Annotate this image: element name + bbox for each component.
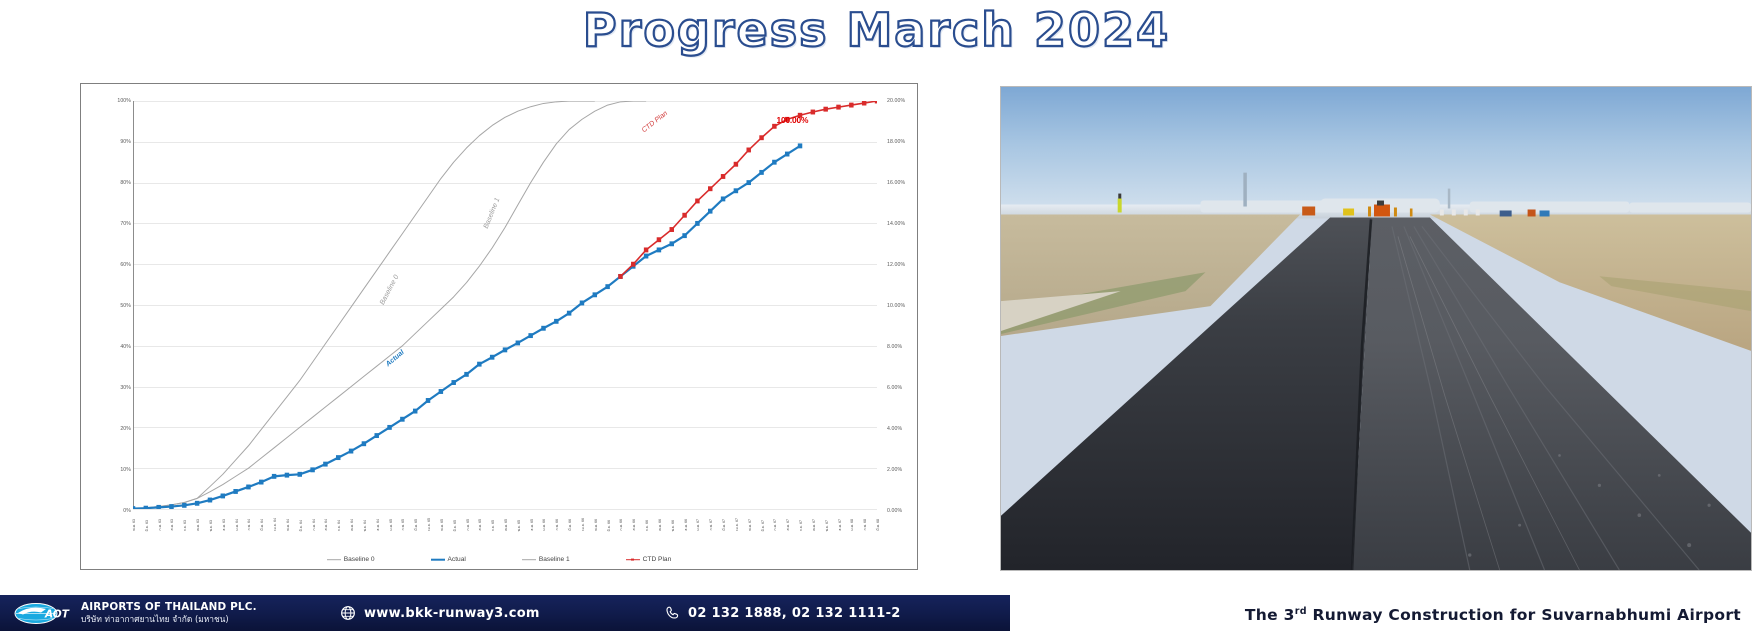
- x-axis-tick-label: ก.ย. 65: [492, 520, 496, 531]
- x-axis-tick-label: ส.ค. 64: [325, 519, 329, 531]
- series-marker: [670, 241, 674, 246]
- footer-org-name-en: AIRPORTS OF THAILAND PLC.: [81, 602, 257, 614]
- series-marker: [323, 462, 327, 467]
- x-axis-tick-label: ธ.ค. 67: [839, 519, 843, 531]
- x-axis-tick-label: ต.ค. 65: [505, 519, 509, 531]
- x-axis-tick-label: พ.ย. 67: [826, 520, 830, 531]
- legend-label: Baseline 1: [539, 556, 570, 563]
- y-axis-tick-label: 90%: [120, 139, 131, 145]
- progress-chart-panel: 100%90%80%70%60%50%40%30%20%10%0% 20.00%…: [80, 83, 918, 570]
- legend-item-baseline-0[interactable]: Baseline 0: [327, 556, 375, 563]
- y-axis-tick-label: 60%: [120, 262, 131, 268]
- x-axis-tick-label: เม.ย. 64: [274, 518, 278, 531]
- series-marker: [400, 417, 404, 422]
- series-marker: [554, 319, 558, 324]
- chart-series-svg: [133, 101, 877, 509]
- series-marker: [734, 188, 738, 193]
- x-axis-tick-label: มี.ค. 68: [877, 519, 881, 531]
- series-marker: [272, 474, 276, 479]
- series-marker: [746, 180, 750, 185]
- footer-website-text: www.bkk-runway3.com: [364, 606, 540, 621]
- legend-item-ctd-plan[interactable]: CTD Plan: [626, 556, 672, 563]
- series-marker: [670, 227, 674, 232]
- svg-text:AOT: AOT: [44, 608, 70, 620]
- y-axis-tick-label: 20%: [120, 426, 131, 432]
- series-marker: [657, 237, 661, 242]
- series-marker: [721, 174, 725, 179]
- series-marker: [708, 209, 712, 214]
- phone-icon: [665, 605, 681, 621]
- y-axis-tick-label: 50%: [120, 303, 131, 309]
- x-axis-tick-label: ธ.ค. 63: [223, 519, 227, 531]
- series-marker: [721, 196, 725, 201]
- x-axis-tick-label: ต.ค. 63: [197, 519, 201, 531]
- series-marker: [695, 199, 699, 204]
- series-line-actual: [133, 146, 800, 509]
- series-marker: [849, 103, 853, 108]
- series-marker: [182, 503, 186, 508]
- x-axis-tick-label: ก.ค. 66: [620, 519, 624, 531]
- legend-label: Actual: [448, 556, 466, 563]
- secondary-y-axis-tick-label: 20.00%: [887, 98, 905, 104]
- x-axis-tick-label: ต.ค. 64: [351, 519, 355, 531]
- series-marker: [593, 292, 597, 297]
- y-axis-tick-label: 80%: [120, 180, 131, 186]
- x-axis-tick-label: ก.พ. 64: [248, 519, 252, 531]
- x-axis-tick-label: ส.ค. 66: [633, 519, 637, 531]
- x-axis-tick-label: มิ.ย. 66: [608, 520, 612, 531]
- series-marker: [823, 107, 827, 112]
- series-marker: [477, 362, 481, 367]
- primary-y-axis: 100%90%80%70%60%50%40%30%20%10%0%: [91, 84, 131, 569]
- y-axis-tick-label: 30%: [120, 385, 131, 391]
- x-axis-tick-label: ส.ค. 65: [479, 519, 483, 531]
- x-axis-tick-labels: พ.ค. 63มิ.ย. 63ก.ค. 63ส.ค. 63ก.ย. 63ต.ค.…: [133, 509, 877, 531]
- series-marker: [811, 110, 815, 115]
- x-axis-tick-label: ต.ค. 67: [813, 519, 817, 531]
- series-marker: [451, 380, 455, 385]
- series-marker: [631, 262, 635, 267]
- series-marker: [349, 449, 353, 454]
- secondary-y-axis-tick-label: 4.00%: [887, 426, 902, 432]
- footer-phone-text: 02 132 1888, 02 132 1111-2: [688, 606, 901, 621]
- series-marker: [426, 398, 430, 403]
- legend-item-actual[interactable]: Actual: [431, 556, 466, 563]
- secondary-y-axis: 20.00%18.00%16.00%14.00%12.00%10.00%8.00…: [881, 84, 921, 569]
- x-axis-tick-label: ก.ค. 67: [774, 519, 778, 531]
- series-marker: [618, 274, 622, 279]
- secondary-y-axis-tick-label: 14.00%: [887, 221, 905, 227]
- x-axis-tick-label: มี.ค. 65: [415, 519, 419, 531]
- x-axis-tick-label: พ.ค. 63: [133, 519, 137, 531]
- series-marker: [580, 301, 584, 306]
- series-marker: [772, 160, 776, 165]
- page-title: Progress March 2024: [0, 2, 1753, 60]
- series-marker: [439, 389, 443, 394]
- x-axis-tick-label: ก.ย. 67: [800, 520, 804, 531]
- secondary-y-axis-tick-label: 18.00%: [887, 139, 905, 145]
- x-axis-tick-label: ก.พ. 66: [556, 519, 560, 531]
- aot-logo-icon: AOT: [14, 602, 74, 625]
- series-marker: [285, 473, 289, 478]
- series-marker: [221, 493, 225, 498]
- secondary-y-axis-tick-label: 0.00%: [887, 508, 902, 514]
- series-marker: [862, 101, 866, 105]
- x-axis-tick-label: ม.ค. 65: [390, 519, 394, 531]
- legend-marker: [631, 558, 634, 561]
- series-marker: [233, 489, 237, 494]
- x-axis-tick-label: ธ.ค. 66: [685, 519, 689, 531]
- series-line-baseline-0: [133, 101, 595, 509]
- series-marker: [490, 355, 494, 360]
- chart-plot-area: Baseline 0 Baseline 1 Actual CTD Plan 10…: [133, 101, 877, 509]
- series-marker: [195, 501, 199, 506]
- footer-caption-prefix: The 3: [1245, 606, 1295, 624]
- x-axis-tick-label: พ.ค. 67: [749, 519, 753, 531]
- footer-brand: AOT AIRPORTS OF THAILAND PLC. บริษัท ท่า…: [14, 602, 257, 625]
- series-marker: [759, 170, 763, 175]
- globe-icon: [340, 605, 356, 621]
- x-axis-tick-label: มิ.ย. 67: [762, 520, 766, 531]
- x-axis-tick-label: มี.ค. 67: [723, 519, 727, 531]
- x-axis-tick-label: ก.ย. 63: [184, 520, 188, 531]
- x-axis-tick-label: ส.ค. 63: [171, 519, 175, 531]
- x-axis-tick-label: ก.ค. 63: [159, 519, 163, 531]
- series-marker: [644, 254, 648, 259]
- secondary-y-axis-tick-label: 16.00%: [887, 180, 905, 186]
- series-line-baseline-1: [133, 101, 646, 509]
- series-marker: [644, 247, 648, 252]
- x-axis-tick-label: พ.ย. 63: [210, 520, 214, 531]
- series-marker: [336, 455, 340, 460]
- series-marker: [298, 472, 302, 477]
- x-axis-tick-label: พ.ย. 64: [364, 520, 368, 531]
- series-marker: [413, 409, 417, 414]
- series-marker: [695, 221, 699, 226]
- x-axis-tick-label: ก.พ. 68: [864, 519, 868, 531]
- runway-construction-photo: [1000, 86, 1752, 571]
- legend-item-baseline-1[interactable]: Baseline 1: [522, 556, 570, 563]
- y-axis-tick-label: 40%: [120, 344, 131, 350]
- runway-photo-illustration: [1001, 87, 1751, 570]
- secondary-y-axis-tick-label: 12.00%: [887, 262, 905, 268]
- x-axis-tick-label: พ.ย. 65: [518, 520, 522, 531]
- series-marker: [785, 152, 789, 157]
- series-marker: [362, 441, 366, 446]
- series-marker: [246, 485, 250, 490]
- series-marker: [746, 148, 750, 153]
- x-axis-tick-label: ธ.ค. 65: [531, 519, 535, 531]
- y-axis-tick-label: 70%: [120, 221, 131, 227]
- footer-phone: 02 132 1888, 02 132 1111-2: [665, 605, 901, 621]
- x-axis-tick-label: ต.ค. 66: [659, 519, 663, 531]
- y-axis-tick-label: 100%: [117, 98, 131, 104]
- x-axis-tick-label: ก.พ. 67: [710, 519, 714, 531]
- series-marker: [310, 467, 314, 472]
- secondary-y-axis-tick-label: 6.00%: [887, 385, 902, 391]
- legend-label: Baseline 0: [344, 556, 375, 563]
- secondary-y-axis-tick-label: 10.00%: [887, 303, 905, 309]
- x-axis-tick-label: พ.ย. 66: [672, 520, 676, 531]
- x-axis-tick-label: มี.ค. 64: [261, 519, 265, 531]
- footer-brand-text: AIRPORTS OF THAILAND PLC. บริษัท ท่าอากา…: [81, 602, 257, 624]
- series-marker: [734, 162, 738, 167]
- footer-caption-suffix: Runway Construction for Suvarnabhumi Air…: [1307, 606, 1741, 624]
- footer-bar: AOT AIRPORTS OF THAILAND PLC. บริษัท ท่า…: [0, 595, 1010, 631]
- x-axis-tick-label: ส.ค. 67: [787, 519, 791, 531]
- series-marker: [528, 333, 532, 338]
- footer-caption-ordinal: rd: [1295, 606, 1307, 617]
- footer-caption: The 3rd Runway Construction for Suvarnab…: [1245, 606, 1741, 624]
- series-marker: [759, 135, 763, 140]
- series-marker: [208, 498, 212, 503]
- x-axis-tick-label: มี.ค. 66: [569, 519, 573, 531]
- legend-label: CTD Plan: [643, 556, 672, 563]
- series-marker: [836, 105, 840, 110]
- series-marker: [682, 213, 686, 218]
- x-axis-tick-label: ม.ค. 67: [697, 519, 701, 531]
- x-axis-tick-label: ก.ค. 64: [313, 519, 317, 531]
- x-axis-tick-label: มิ.ย. 63: [146, 520, 150, 531]
- x-axis-tick-label: ก.ย. 66: [646, 520, 650, 531]
- x-axis-tick-label: ก.ย. 64: [338, 520, 342, 531]
- x-axis-tick-label: พ.ค. 66: [595, 519, 599, 531]
- x-axis-tick-label: พ.ค. 65: [441, 519, 445, 531]
- series-marker: [682, 233, 686, 238]
- series-marker: [567, 311, 571, 316]
- secondary-y-axis-tick-label: 2.00%: [887, 467, 902, 473]
- series-marker: [605, 284, 609, 289]
- x-axis-tick-label: ก.ค. 65: [467, 519, 471, 531]
- secondary-y-axis-tick-label: 8.00%: [887, 344, 902, 350]
- x-axis-tick-label: ก.พ. 65: [402, 519, 406, 531]
- series-marker: [464, 372, 468, 377]
- x-axis-tick-label: เม.ย. 65: [428, 518, 432, 531]
- x-axis-tick-label: ม.ค. 68: [851, 519, 855, 531]
- series-marker: [259, 480, 263, 485]
- final-value-label: 100.00%: [777, 115, 809, 125]
- x-axis-tick-label: ธ.ค. 64: [377, 519, 381, 531]
- series-marker: [875, 101, 877, 103]
- footer-website[interactable]: www.bkk-runway3.com: [340, 605, 540, 621]
- series-marker: [503, 347, 507, 352]
- y-axis-tick-label: 10%: [120, 467, 131, 473]
- series-marker: [798, 143, 802, 148]
- x-axis-tick-label: มิ.ย. 65: [454, 520, 458, 531]
- x-axis-tick-label: เม.ย. 66: [582, 518, 586, 531]
- x-axis-tick-label: มิ.ย. 64: [300, 520, 304, 531]
- x-axis-tick-label: ม.ค. 64: [236, 519, 240, 531]
- x-axis-tick-label: ม.ค. 66: [543, 519, 547, 531]
- series-marker: [541, 326, 545, 331]
- chart-plot-wrapper: 100%90%80%70%60%50%40%30%20%10%0% 20.00%…: [81, 84, 917, 569]
- series-marker: [657, 247, 661, 252]
- x-axis-tick-label: พ.ค. 64: [287, 519, 291, 531]
- series-marker: [374, 433, 378, 438]
- footer-org-name-th: บริษัท ท่าอากาศยานไทย จำกัด (มหาชน): [81, 614, 257, 624]
- series-marker: [708, 186, 712, 191]
- series-marker: [516, 340, 520, 345]
- y-axis-tick-label: 0%: [123, 508, 131, 514]
- chart-legend: Baseline 0ActualBaseline 1CTD Plan: [81, 556, 917, 563]
- x-axis-tick-label: เม.ย. 67: [736, 518, 740, 531]
- series-marker: [387, 425, 391, 430]
